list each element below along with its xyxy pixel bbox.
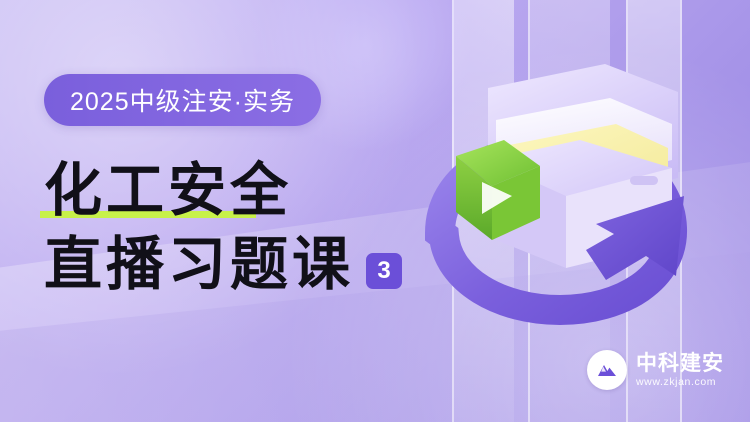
page-title-line-1: 化工安全 xyxy=(44,162,292,220)
brand-url: www.zkjan.com xyxy=(636,376,724,388)
course-badge-label: 2025中级注安·实务 xyxy=(70,82,295,118)
title-line-1-row: 化工安全 xyxy=(44,160,474,222)
page-title-line-2: 直播习题课 xyxy=(44,236,354,294)
episode-number-badge: 3 xyxy=(366,253,402,289)
banner-canvas: 2025中级注安·实务 化工安全 直播习题课 3 中科建安 www.zkjan.… xyxy=(0,0,750,422)
mountain-logo-icon xyxy=(587,350,627,390)
brand-logo: 中科建安 www.zkjan.com xyxy=(587,350,724,390)
brand-name: 中科建安 xyxy=(636,352,724,376)
title-line-2-row: 直播习题课 3 xyxy=(44,234,474,296)
course-badge: 2025中级注安·实务 xyxy=(44,74,321,126)
brand-logo-texts: 中科建安 www.zkjan.com xyxy=(636,352,724,388)
title-block: 化工安全 直播习题课 3 xyxy=(44,160,474,308)
